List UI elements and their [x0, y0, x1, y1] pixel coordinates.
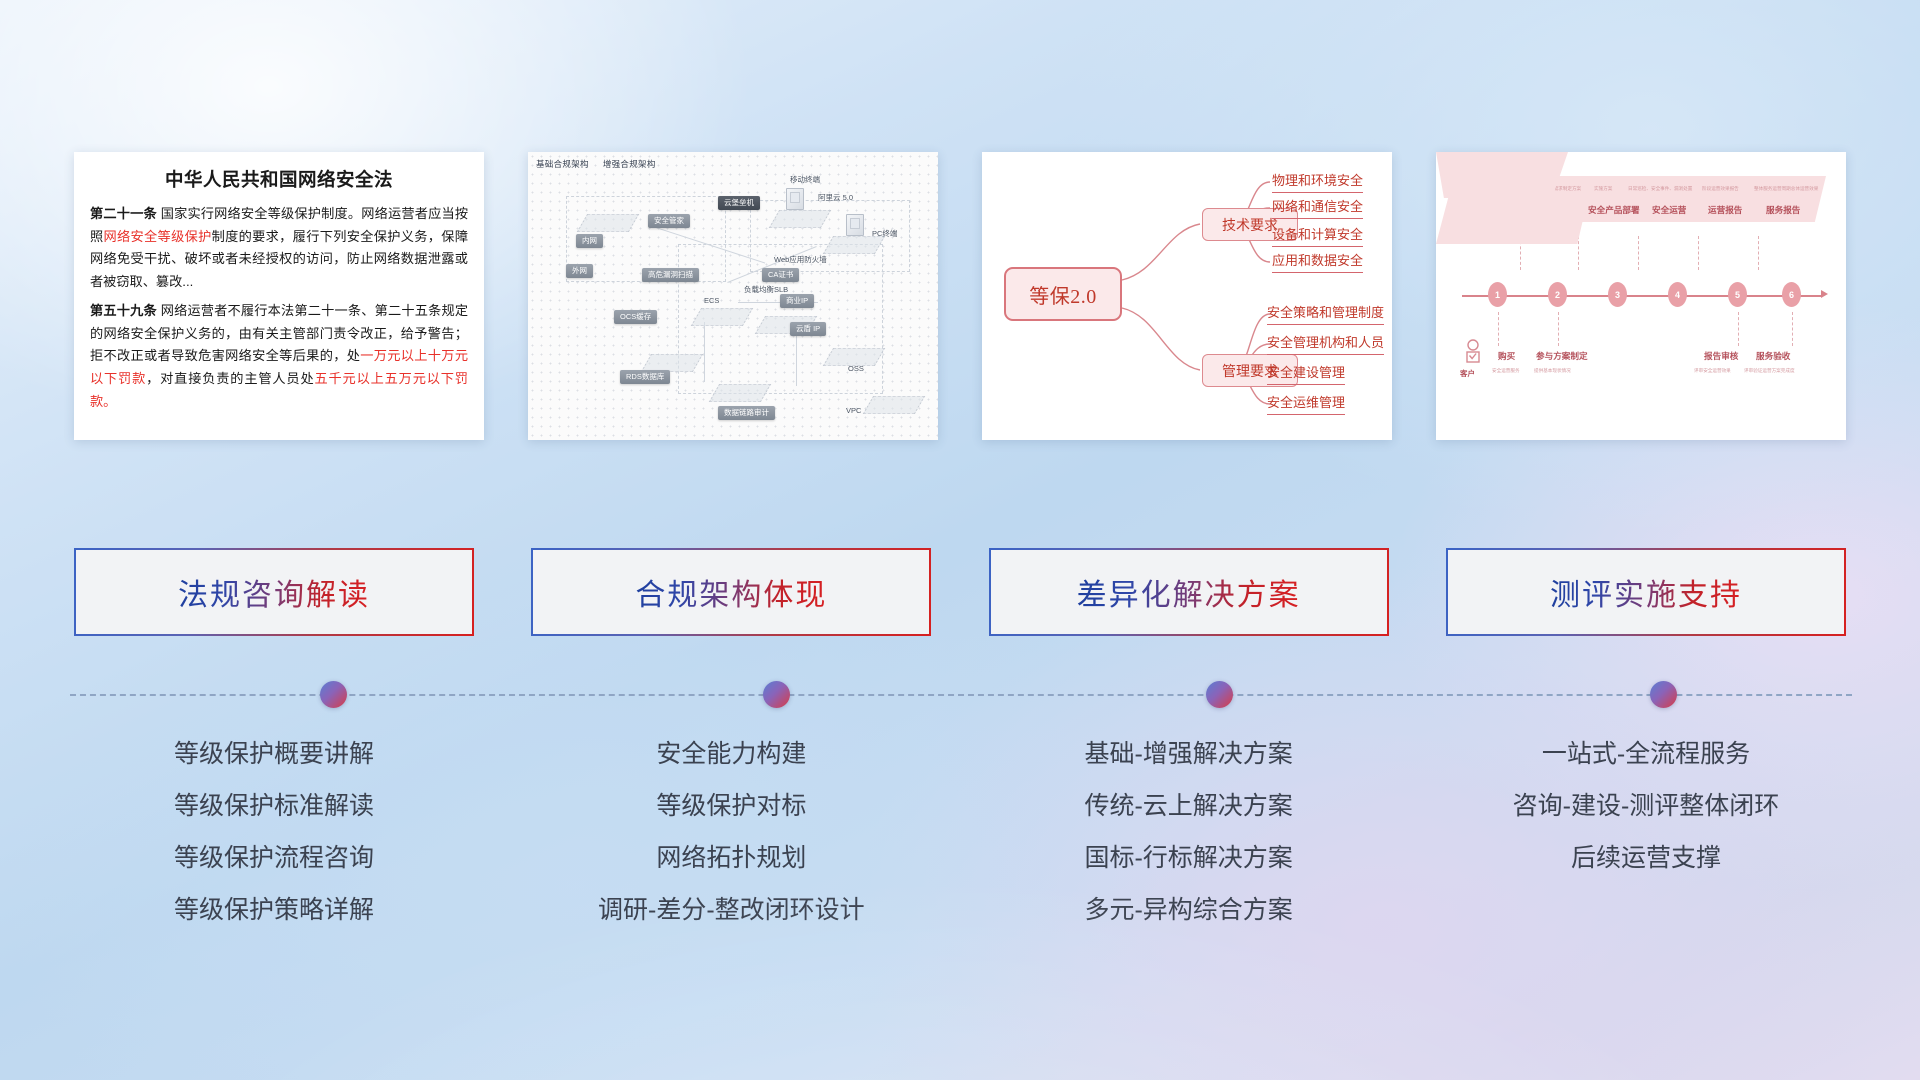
list-item: 等级保护概要讲解	[174, 742, 374, 767]
nsfocus-bottom-step-1-main: 购买	[1498, 350, 1515, 362]
banner-label: 差异化解决方案	[1077, 570, 1301, 614]
nsfocus-tick	[1578, 236, 1579, 270]
mindmap-leaf-operations[interactable]: 安全运维管理	[1267, 392, 1345, 415]
nsfocus-step-number-2: 2	[1548, 282, 1567, 307]
banner-compliance-architecture[interactable]: 合规架构体现	[531, 548, 931, 636]
mindmap-root-node[interactable]: 等保2.0	[1004, 267, 1122, 321]
nsfocus-step-number-5: 5	[1728, 282, 1747, 307]
nsfocus-bottom-step-1-sub: 安全运营服务	[1492, 368, 1520, 374]
mindmap-leaf-physical-env[interactable]: 物理和环境安全	[1272, 170, 1363, 193]
label-vpc: VPC	[846, 406, 861, 415]
node-internal-net: 内网	[576, 234, 603, 248]
nsfocus-bottom-step-3-sub: 评审安全运营效果	[1694, 368, 1731, 374]
law-article-21: 第二十一条 国家实行网络安全等级保护制度。网络运营者应当按照网络安全等级保护制度…	[90, 203, 468, 294]
customer-person-icon	[1460, 338, 1486, 368]
architecture-plate	[709, 384, 771, 402]
label-ecs: ECS	[704, 296, 719, 305]
architecture-plate	[577, 214, 639, 232]
nsfocus-step-5-sub: 整体服务运营周期总体运营效果	[1754, 186, 1818, 192]
nsfocus-step-number-6: 6	[1782, 282, 1801, 307]
list-item: 基础-增强解决方案	[1084, 742, 1292, 767]
mindmap-leaf-device-compute[interactable]: 设备和计算安全	[1272, 224, 1363, 247]
nsfocus-step-2-main: 安全产品部署	[1588, 204, 1640, 216]
detail-list-compliance-architecture: 安全能力构建 等级保护对标 网络拓扑规划 调研-差分-整改闭环设计	[531, 742, 931, 950]
server-icon	[846, 214, 864, 236]
node-cloud-bastion: 云堡垒机	[718, 196, 760, 210]
card-mindmap[interactable]: 等保2.0 技术要求 管理要求 物理和环境安全 网络和通信安全 设备和计算安全 …	[982, 152, 1392, 440]
architecture-header-right: 增强合规架构	[603, 159, 656, 169]
law-article-59-label: 第五十九条	[90, 303, 157, 318]
nsfocus-step-2-sub: 实施方案	[1594, 186, 1612, 192]
banner-row: 法规咨询解读 合规架构体现 差异化解决方案 测评实施支持	[74, 548, 1846, 646]
nsfocus-step-number-1: 1	[1488, 282, 1507, 307]
nsfocus-bottom-step-4-main: 服务验收	[1756, 350, 1790, 362]
nsfocus-bottom-step-2-sub: 提供基本现状情况	[1534, 368, 1571, 374]
timeline-dot-2[interactable]	[763, 681, 790, 708]
node-elastic-ip: 商业IP	[780, 294, 814, 308]
timeline-dot-4[interactable]	[1650, 681, 1677, 708]
nsfocus-step-4-main: 运营报告	[1708, 204, 1742, 216]
nsfocus-step-3-main: 安全运营	[1652, 204, 1686, 216]
list-item: 等级保护策略详解	[174, 898, 374, 923]
nsfocus-axis-line	[1462, 295, 1822, 297]
detail-list-evaluation-support: 一站式-全流程服务 咨询-建设-测评整体闭环 后续运营支撑	[1446, 742, 1846, 950]
list-item: 后续运营支撑	[1571, 846, 1721, 871]
list-item: 国标-行标解决方案	[1084, 846, 1292, 871]
banner-evaluation-support[interactable]: 测评实施支持	[1446, 548, 1846, 636]
law-article-21-highlight: 网络安全等级保护	[104, 229, 212, 244]
label-slb: 负载均衡SLB	[744, 284, 788, 295]
list-item: 一站式-全流程服务	[1542, 742, 1750, 767]
node-oss-cache: OCS缓存	[614, 310, 657, 324]
list-item: 等级保护标准解读	[174, 794, 374, 819]
architecture-plate	[691, 308, 753, 326]
list-item: 网络拓扑规划	[656, 846, 806, 871]
node-cloud-shield-ip: 云盾 IP	[790, 322, 826, 336]
mindmap-leaf-policy-system[interactable]: 安全策略和管理制度	[1267, 302, 1384, 325]
list-item: 调研-差分-整改闭环设计	[598, 898, 865, 923]
law-article-59-mid: ，对直接负责的主管人员处	[146, 371, 314, 386]
node-data-link-audit: 数据链路审计	[718, 406, 775, 420]
architecture-plate	[863, 396, 925, 414]
timeline-connector	[70, 694, 1852, 696]
architecture-header-left: 基础合规架构	[536, 159, 589, 169]
nsfocus-step-4-sub: 阶段运营效果报告	[1702, 186, 1739, 192]
architecture-connector	[796, 330, 797, 386]
detail-list-regulation-consulting: 等级保护概要讲解 等级保护标准解读 等级保护流程咨询 等级保护策略详解	[74, 742, 474, 950]
nsfocus-bottom-step-4-sub: 评审验证运营方案完成度	[1744, 368, 1795, 374]
list-item: 咨询-建设-测评整体闭环	[1513, 794, 1780, 819]
architecture-header: 基础合规架构增强合规架构	[536, 158, 656, 170]
detail-list-row: 等级保护概要讲解 等级保护标准解读 等级保护流程咨询 等级保护策略详解 安全能力…	[74, 742, 1846, 950]
nsfocus-tick	[1498, 312, 1499, 346]
mindmap-leaf-network-comm[interactable]: 网络和通信安全	[1272, 196, 1363, 219]
label-mobile-terminal: 移动终端	[790, 174, 820, 185]
nsfocus-step-5-main: 服务报告	[1766, 204, 1800, 216]
nsfocus-step-number-3: 3	[1608, 282, 1627, 307]
nsfocus-tick	[1758, 236, 1759, 270]
architecture-plate	[769, 210, 831, 228]
label-pc-terminal: PC终端	[872, 228, 897, 239]
server-icon	[786, 188, 804, 210]
nsfocus-step-3-sub: 日常巡检、安全事件、漏洞处置	[1628, 186, 1692, 192]
nsfocus-customer-label: 客户	[1460, 368, 1475, 379]
nsfocus-tick	[1698, 236, 1699, 270]
card-law-document[interactable]: 中华人民共和国网络安全法 第二十一条 国家实行网络安全等级保护制度。网络运营者应…	[74, 152, 484, 440]
law-article-21-label: 第二十一条	[90, 206, 157, 221]
list-item: 安全能力构建	[656, 742, 806, 767]
label-oss: OSS	[848, 364, 864, 373]
banner-label: 合规架构体现	[635, 570, 827, 614]
node-ca-certificate: CA证书	[762, 268, 799, 282]
list-item: 传统-云上解决方案	[1084, 794, 1292, 819]
timeline-dot-1[interactable]	[320, 681, 347, 708]
law-title: 中华人民共和国网络安全法	[90, 166, 468, 192]
nsfocus-bottom-right-band	[1436, 198, 1588, 244]
node-external-net: 外网	[566, 264, 593, 278]
architecture-connector	[704, 322, 705, 382]
nsfocus-tick	[1738, 312, 1739, 346]
list-item: 等级保护流程咨询	[174, 846, 374, 871]
node-vuln-scan: 高危漏洞扫描	[642, 268, 699, 282]
label-waf: Web应用防火墙	[774, 254, 827, 265]
label-aliyun: 阿里云 5.0	[818, 192, 853, 203]
image-card-row: 中华人民共和国网络安全法 第二十一条 国家实行网络安全等级保护制度。网络运营者应…	[74, 152, 1846, 440]
nsfocus-tick	[1638, 236, 1639, 270]
card-architecture-diagram[interactable]: 基础合规架构增强合规架构 云堡垒机	[528, 152, 938, 440]
mindmap-leaf-org-personnel[interactable]: 安全管理机构和人员	[1267, 332, 1384, 355]
nsfocus-bottom-step-3-main: 报告审核	[1704, 350, 1738, 362]
timeline-dot-3[interactable]	[1206, 681, 1233, 708]
node-security-manager: 安全管家	[648, 214, 690, 228]
banner-label: 法规咨询解读	[178, 570, 370, 614]
nsfocus-axis-arrow-icon	[1821, 290, 1828, 298]
mindmap-leaf-app-data[interactable]: 应用和数据安全	[1272, 250, 1363, 273]
card-nsfocus-timeline[interactable]: NSFOCUS 安全专家 结合客户实际需求制定方案 制定运营方案 实施方案 安全…	[1436, 152, 1846, 440]
mindmap-leaf-construction[interactable]: 安全建设管理	[1267, 362, 1345, 385]
nsfocus-tick	[1558, 312, 1559, 346]
banner-differentiated-solution[interactable]: 差异化解决方案	[989, 548, 1389, 636]
nsfocus-bottom-step-2-main: 参与方案制定	[1536, 350, 1588, 362]
law-article-59: 第五十九条 网络运营者不履行本法第二十一条、第二十五条规定的网络安全保护义务的，…	[90, 300, 468, 414]
nsfocus-step-number-4: 4	[1668, 282, 1687, 307]
banner-regulation-consulting[interactable]: 法规咨询解读	[74, 548, 474, 636]
list-item: 等级保护对标	[656, 794, 806, 819]
list-item: 多元-异构综合方案	[1084, 898, 1292, 923]
node-rds-database: RDS数据库	[620, 370, 670, 384]
nsfocus-tick	[1792, 312, 1793, 346]
detail-list-differentiated-solution: 基础-增强解决方案 传统-云上解决方案 国标-行标解决方案 多元-异构综合方案	[989, 742, 1389, 950]
banner-label: 测评实施支持	[1550, 570, 1742, 614]
slide-canvas: 中华人民共和国网络安全法 第二十一条 国家实行网络安全等级保护制度。网络运营者应…	[0, 0, 1920, 1080]
nsfocus-bottom-left-band	[1436, 152, 1568, 198]
